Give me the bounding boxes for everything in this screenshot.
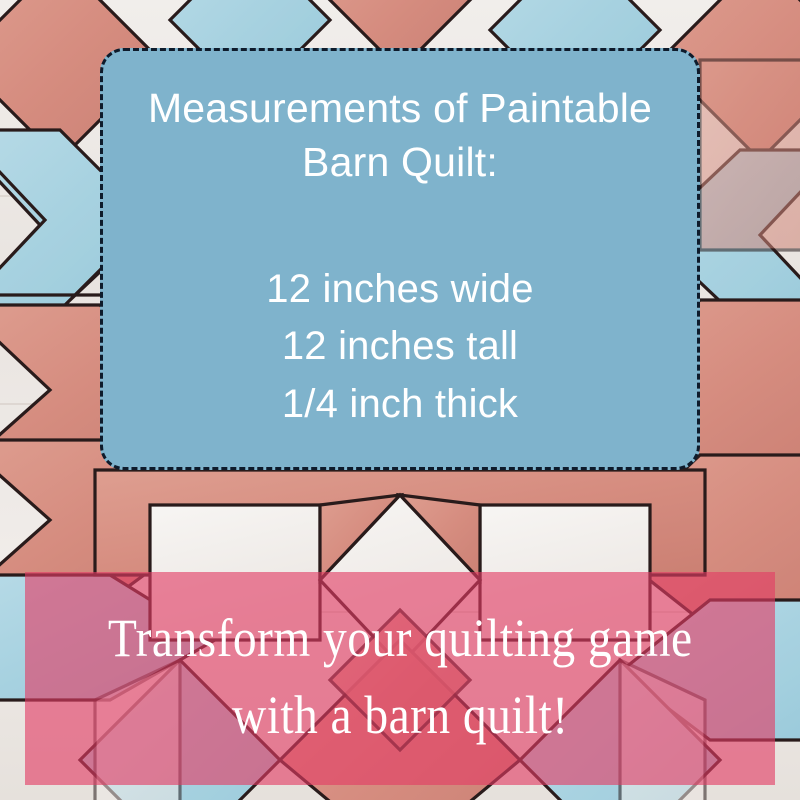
measurements-card: Measurements of Paintable Barn Quilt: 12…	[100, 48, 700, 470]
image-canvas: Measurements of Paintable Barn Quilt: 12…	[0, 0, 800, 800]
promo-tagline: Transform your quilting game with a barn…	[108, 600, 693, 757]
spec-thickness: 1/4 inch thick	[129, 376, 671, 433]
spec-height: 12 inches tall	[129, 318, 671, 375]
measurements-list: 12 inches wide 12 inches tall 1/4 inch t…	[129, 261, 671, 433]
card-heading: Measurements of Paintable Barn Quilt:	[129, 81, 671, 189]
promo-banner: Transform your quilting game with a barn…	[25, 572, 775, 785]
spec-width: 12 inches wide	[129, 261, 671, 318]
